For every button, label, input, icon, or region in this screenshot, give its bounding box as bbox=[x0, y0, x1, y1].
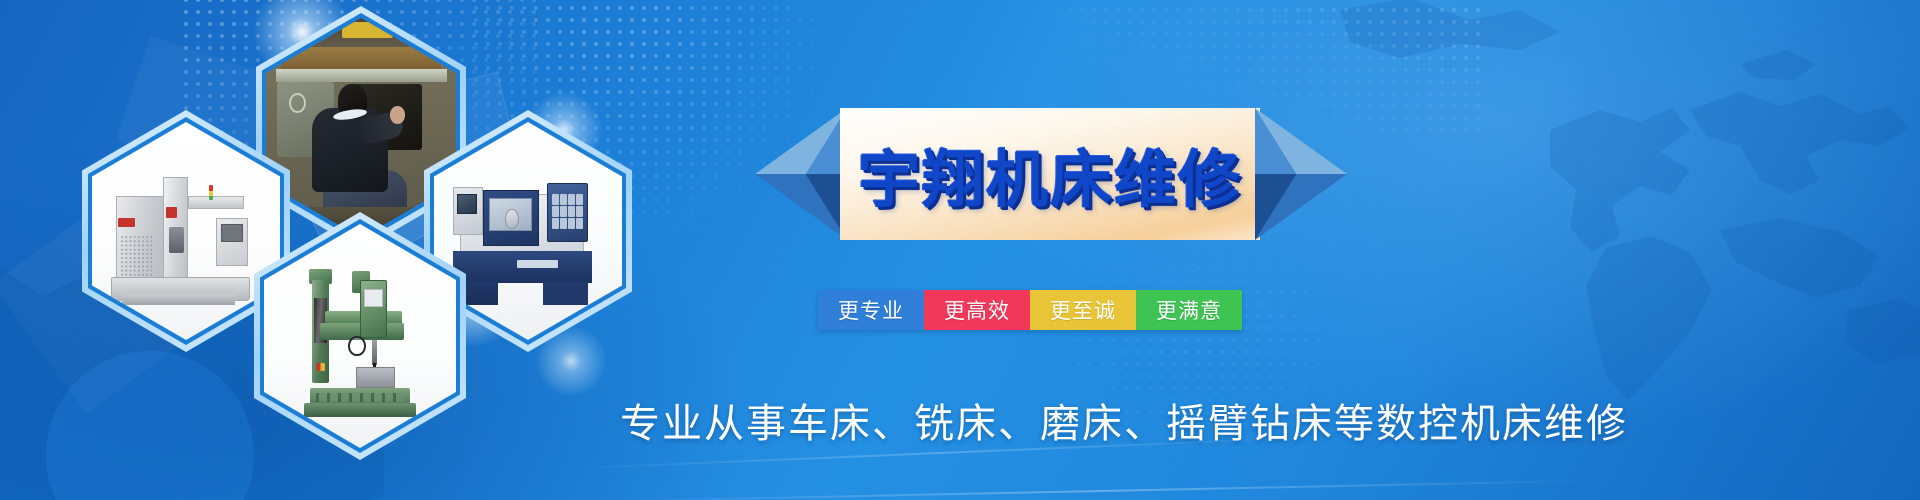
hex-photo-technician-repairing-machine bbox=[266, 18, 456, 238]
feature-tag-satisfying: 更满意 bbox=[1136, 290, 1242, 330]
hex-photo-radial-drilling-machine bbox=[264, 224, 456, 448]
geometric-shard-decoration bbox=[116, 36, 283, 184]
hex-frame bbox=[424, 110, 632, 352]
geometric-shard-decoration bbox=[371, 155, 513, 306]
hex-frame bbox=[254, 212, 466, 460]
light-flare bbox=[246, 0, 358, 88]
feature-tag-efficient: 更高效 bbox=[924, 290, 1030, 330]
geometric-shard-decoration bbox=[420, 72, 521, 184]
hex-gap bbox=[430, 117, 626, 345]
page-subtitle: 专业从事车床、铣床、磨床、摇臂钻床等数控机床维修 bbox=[620, 392, 1620, 448]
hex-gap bbox=[88, 117, 284, 345]
feature-tag-professional: 更专业 bbox=[818, 290, 924, 330]
hex-photo-cnc-lathe-machine bbox=[434, 122, 622, 340]
geometric-shard-decoration bbox=[0, 167, 248, 414]
banner-root: 宇翔机床维修 更专业 更高效 更至诚 更满意 专业从事车床、铣床、磨床、摇臂钻床… bbox=[0, 0, 1920, 500]
hex-gap bbox=[262, 13, 460, 243]
title-plaque: 宇翔机床维修 bbox=[755, 108, 1345, 240]
chevron-left-decoration bbox=[755, 108, 847, 240]
halftone-dot-pattern bbox=[180, 0, 540, 184]
hex-frame bbox=[82, 110, 290, 352]
geometric-shard-decoration bbox=[272, 91, 448, 280]
hex-gap bbox=[260, 219, 460, 453]
light-flare bbox=[418, 246, 526, 354]
hex-frame bbox=[256, 6, 466, 250]
gear-icon bbox=[0, 195, 410, 500]
light-flare bbox=[530, 320, 612, 402]
chevron-right-decoration bbox=[1255, 108, 1347, 240]
light-streak-decoration bbox=[600, 480, 1600, 500]
light-flare bbox=[520, 86, 608, 174]
feature-tag-bar: 更专业 更高效 更至诚 更满意 bbox=[818, 290, 1242, 330]
page-title: 宇翔机床维修 bbox=[840, 108, 1260, 240]
feature-tag-sincere: 更至诚 bbox=[1030, 290, 1136, 330]
hex-photo-cnc-milling-machine bbox=[92, 122, 280, 340]
